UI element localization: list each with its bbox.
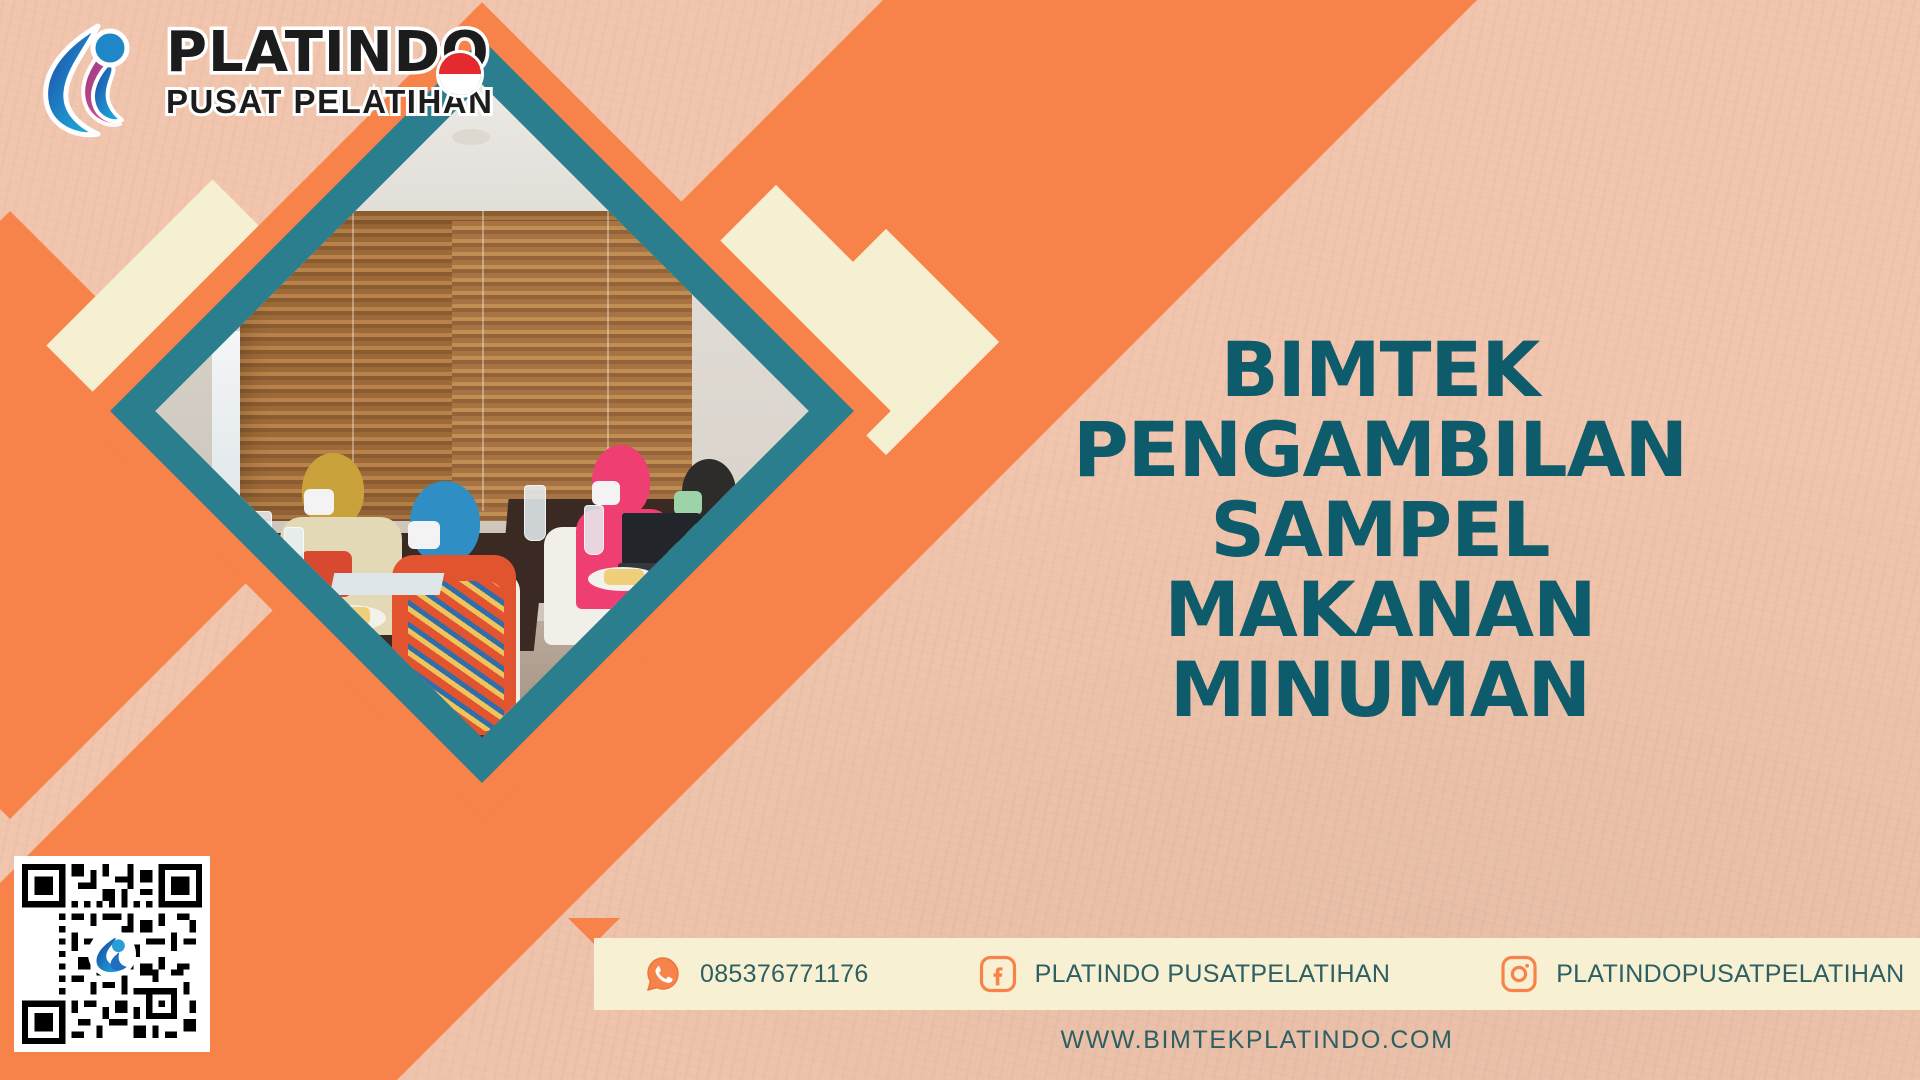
- water-pitcher: [524, 485, 546, 541]
- facebook-handle: PLATINDO PUSATPELATIHAN: [1035, 960, 1391, 989]
- instagram-icon: [1500, 955, 1538, 993]
- water-glass: [584, 505, 604, 555]
- title-line-2: PENGAMBILAN: [860, 410, 1900, 490]
- facebook-icon: [979, 955, 1017, 993]
- qr-center-logo-icon: [88, 930, 136, 978]
- website-url[interactable]: WWW.BIMTEKPLATINDO.COM: [594, 1026, 1920, 1055]
- contact-bar: 085376771176 PLATINDO PUSATPELATIHAN PLA…: [594, 938, 1920, 1010]
- platindo-flame-figure-icon: [28, 18, 156, 138]
- title-line-3: SAMPEL: [860, 490, 1900, 570]
- paper-documents: [330, 573, 445, 595]
- contact-whatsapp[interactable]: 085376771176: [644, 955, 869, 993]
- brand-logo[interactable]: PLATINDO PUSAT PELATIHAN: [28, 18, 498, 138]
- training-room-photo: [155, 84, 808, 737]
- contact-facebook[interactable]: PLATINDO PUSATPELATIHAN: [979, 955, 1391, 993]
- title-line-5: MINUMAN: [860, 650, 1900, 730]
- title-line-1: BIMTEK: [860, 330, 1900, 410]
- page-title: BIMTEK PENGAMBILAN SAMPEL MAKANAN MINUMA…: [860, 330, 1900, 730]
- qr-code: [22, 864, 202, 1044]
- qr-code-block[interactable]: [14, 856, 210, 1052]
- diamond-photo-frame: [193, 122, 771, 700]
- wooden-blinds-second: [452, 221, 692, 521]
- photo-clip: [155, 84, 808, 737]
- whatsapp-icon: [644, 955, 682, 993]
- blind-cord: [482, 211, 484, 511]
- contact-instagram[interactable]: PLATINDOPUSATPELATIHAN: [1500, 955, 1904, 993]
- title-line-4: MAKANAN: [860, 570, 1900, 650]
- indonesia-flag-circle-icon: [436, 50, 484, 98]
- whatsapp-number: 085376771176: [700, 960, 869, 989]
- instagram-handle: PLATINDOPUSATPELATIHAN: [1556, 960, 1904, 989]
